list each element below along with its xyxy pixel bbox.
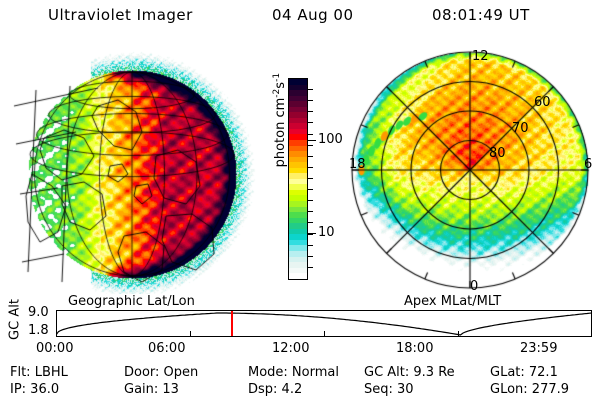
status-gain: Gain: 13	[124, 382, 179, 397]
status-door: Door: Open	[124, 365, 198, 380]
colorbar-minor-tick	[308, 134, 313, 135]
colorbar-minor-tick	[308, 122, 313, 123]
time-axis-label: 00:00	[36, 341, 73, 356]
time-axis-tick	[324, 331, 325, 337]
time-axis: 00:0006:0012:0018:0023:59	[0, 341, 600, 359]
colorbar-gradient-box	[288, 78, 308, 280]
colorbar-minor-tick	[308, 222, 313, 223]
status-flt: Flt: LBHL	[10, 365, 68, 380]
time-axis-label: 12:00	[272, 341, 309, 356]
time-axis-tick	[591, 331, 592, 337]
status-glat: GLat: 72.1	[490, 365, 558, 380]
colorbar-major-tick	[308, 233, 316, 234]
colorbar-minor-tick	[308, 200, 313, 201]
colorbar: photon cm-2s-1 10010	[258, 58, 354, 298]
colorbar-minor-tick	[308, 267, 313, 268]
colorbar-minor-tick	[308, 256, 313, 257]
colorbar-minor-tick	[308, 189, 313, 190]
gc-alt-tick-low: 1.8	[28, 323, 49, 338]
mlt-label-12: 12	[472, 50, 489, 63]
status-glon: GLon: 277.9	[490, 382, 569, 397]
colorbar-minor-tick	[308, 178, 313, 179]
time-axis-tick	[190, 331, 191, 337]
colorbar-minor-tick	[308, 100, 313, 101]
time-axis-label: 06:00	[148, 341, 185, 356]
mlt-label-6: 6	[584, 158, 592, 171]
colorbar-tick-label: 100	[318, 133, 343, 146]
colorbar-band	[289, 273, 307, 279]
geographic-image-panel[interactable]	[6, 46, 256, 294]
status-ip: IP: 36.0	[10, 382, 59, 397]
mlat-ring-label-70: 70	[512, 122, 529, 135]
colorbar-minor-tick	[308, 111, 313, 112]
gc-alt-axis-label: GC Alt	[8, 292, 23, 348]
header-bar: Ultraviolet Imager 04 Aug 00 08:01:49 UT	[0, 6, 600, 30]
status-block: Flt: LBHL IP: 36.0 Door: Open Gain: 13 M…	[0, 365, 600, 399]
time-axis-tick	[56, 331, 57, 337]
colorbar-minor-tick	[308, 211, 313, 212]
mlt-label-0: 0	[470, 280, 478, 293]
gc-alt-tick-high: 9.0	[28, 305, 49, 320]
colorbar-minor-tick	[308, 167, 313, 168]
colorbar-major-tick	[308, 140, 316, 141]
time-axis-label: 23:59	[520, 341, 557, 356]
colorbar-minor-tick	[308, 89, 313, 90]
geographic-auroral-image[interactable]	[6, 46, 256, 294]
colorbar-minor-tick	[308, 156, 313, 157]
status-dsp: Dsp: 4.2	[248, 382, 302, 397]
observation-time: 08:01:49 UT	[432, 6, 530, 24]
colorbar-gradient	[289, 79, 307, 279]
colorbar-minor-tick	[308, 145, 313, 146]
colorbar-minor-tick	[308, 245, 313, 246]
polar-image-panel[interactable]: 121860607080	[344, 44, 596, 296]
geographic-panel-title: Geographic Lat/Lon	[68, 294, 195, 309]
time-axis-label: 18:00	[396, 341, 433, 356]
colorbar-axis-label: photon cm-2s-1	[272, 50, 288, 190]
mlt-label-18: 18	[349, 158, 366, 171]
status-mode: Mode: Normal	[248, 365, 339, 380]
polar-auroral-image[interactable]	[344, 44, 596, 296]
colorbar-tick-label: 10	[318, 226, 335, 239]
current-time-marker[interactable]	[231, 311, 233, 336]
status-gc-alt: GC Alt: 9.3 Re	[364, 365, 455, 380]
mlat-ring-label-80: 80	[489, 147, 506, 160]
page-title: Ultraviolet Imager	[48, 6, 193, 24]
time-axis-tick	[458, 331, 459, 337]
status-seq: Seq: 30	[364, 382, 414, 397]
observation-date: 04 Aug 00	[272, 6, 354, 24]
polar-panel-title: Apex MLat/MLT	[404, 294, 501, 309]
mlat-ring-label-60: 60	[534, 96, 551, 109]
